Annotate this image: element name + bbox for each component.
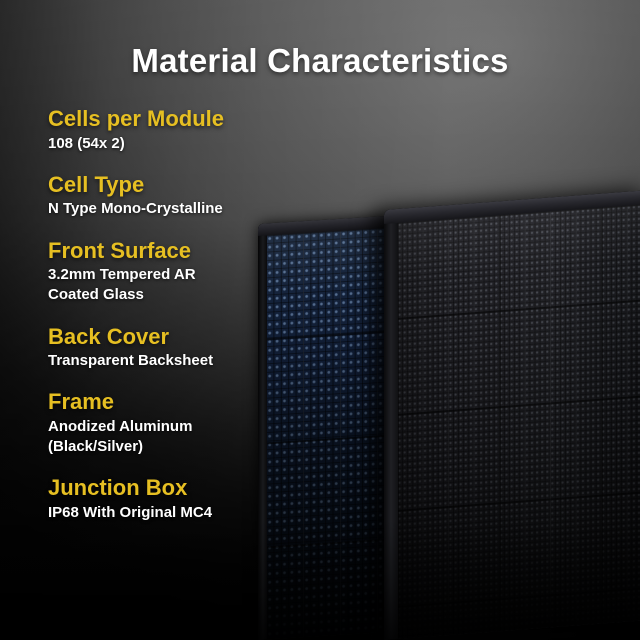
spec-value-back-cover: Transparent Backsheet — [48, 351, 288, 371]
spec-label-frame: Frame — [48, 389, 288, 415]
spec-item-cell-type: Cell Type N Type Mono-Crystalline — [48, 172, 288, 220]
spec-list: Cells per Module 108 (54x 2) Cell Type N… — [48, 106, 288, 541]
spec-item-front-surface: Front Surface 3.2mm Tempered AR Coated G… — [48, 238, 288, 306]
spec-value-frame: Anodized Aluminum (Black/Silver) — [48, 417, 288, 458]
spec-label-cells-per-module: Cells per Module — [48, 106, 288, 132]
spec-label-junction-box: Junction Box — [48, 475, 288, 501]
spec-item-cells-per-module: Cells per Module 108 (54x 2) — [48, 106, 288, 154]
spec-item-back-cover: Back Cover Transparent Backsheet — [48, 324, 288, 372]
spec-item-frame: Frame Anodized Aluminum (Black/Silver) — [48, 389, 288, 457]
spec-value-cell-type: N Type Mono-Crystalline — [48, 199, 288, 219]
spec-value-front-surface: 3.2mm Tempered AR Coated Glass — [48, 265, 288, 306]
spec-value-cells-per-module: 108 (54x 2) — [48, 134, 288, 154]
spec-value-junction-box: IP68 With Original MC4 — [48, 503, 288, 523]
spec-label-front-surface: Front Surface — [48, 238, 288, 264]
page-title: Material Characteristics — [0, 42, 640, 80]
spec-label-back-cover: Back Cover — [48, 324, 288, 350]
spec-label-cell-type: Cell Type — [48, 172, 288, 198]
spec-item-junction-box: Junction Box IP68 With Original MC4 — [48, 475, 288, 523]
product-spec-card: Material Characteristics Cells per Modul… — [0, 0, 640, 640]
